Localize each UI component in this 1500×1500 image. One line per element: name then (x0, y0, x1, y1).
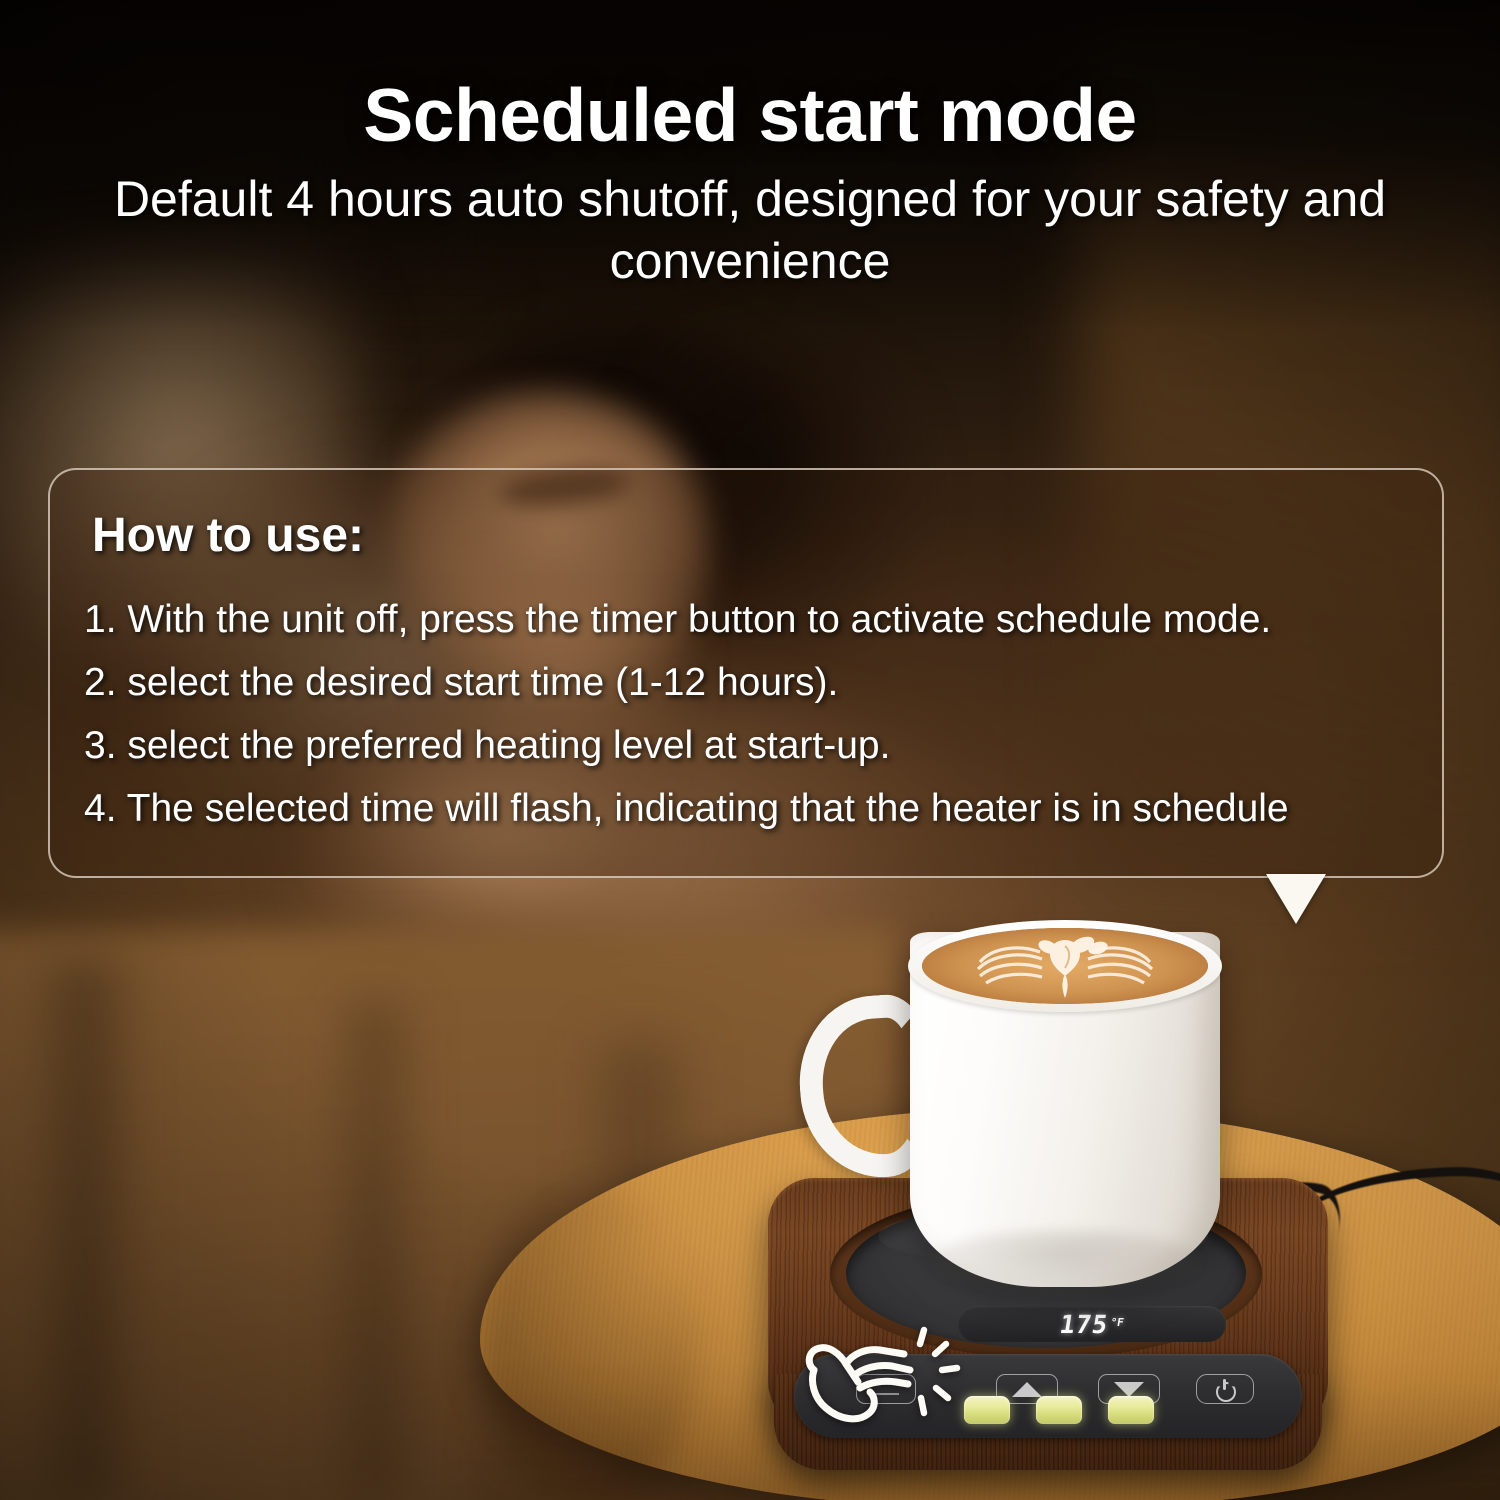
temperature-readout: 175°F (1058, 1310, 1126, 1339)
callout-pointer-arrow (1266, 874, 1326, 924)
mug-bottom-shading (932, 1230, 1198, 1290)
indicator-lights (964, 1396, 1154, 1436)
latte-art (922, 928, 1208, 1004)
instruction-step: 2. select the desired start time (1-12 h… (84, 651, 1424, 714)
hand-tap-icon (796, 1318, 966, 1448)
instruction-step: 3. select the preferred heating level at… (84, 714, 1424, 777)
page-subtitle: Default 4 hours auto shutoff, designed f… (80, 168, 1420, 292)
arrow-up-icon (1012, 1382, 1042, 1397)
power-button[interactable] (1196, 1374, 1254, 1404)
how-to-use-heading: How to use: (92, 508, 364, 563)
temperature-display: 175°F (958, 1306, 1226, 1342)
indicator-light (964, 1396, 1010, 1424)
temperature-value: 175 (1058, 1310, 1111, 1339)
instruction-steps: 1. With the unit off, press the timer bu… (84, 588, 1424, 840)
page-title: Scheduled start mode (0, 72, 1500, 158)
temperature-unit: °F (1110, 1316, 1125, 1329)
arrow-down-icon (1114, 1382, 1144, 1397)
product-marketing-image: 175°F (0, 0, 1500, 1500)
indicator-light (1108, 1396, 1154, 1424)
indicator-light (1036, 1396, 1082, 1424)
instruction-step: 4. The selected time will flash, indicat… (84, 777, 1424, 840)
power-icon (1215, 1379, 1235, 1399)
coffee-surface (922, 928, 1208, 1004)
instruction-step: 1. With the unit off, press the timer bu… (84, 588, 1424, 651)
coffee-mug (782, 912, 1252, 1302)
